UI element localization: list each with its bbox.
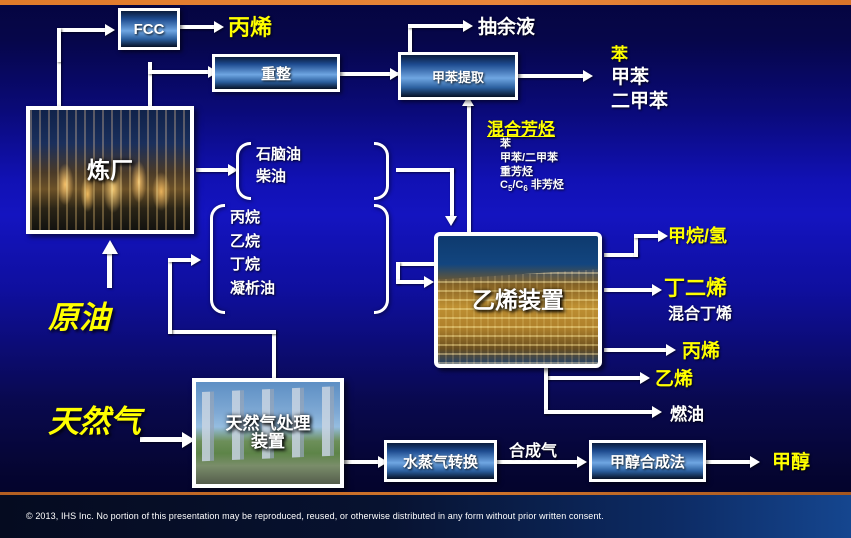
- connector-refinery-to-fcc-vertical: [57, 60, 61, 108]
- unit-gas-processing-line2: 装置: [226, 433, 311, 451]
- copyright-notice: © 2013, IHS Inc. No portion of this pres…: [26, 511, 604, 521]
- aromatic-benzene: 苯: [500, 138, 564, 152]
- cut-condensate: 凝析油: [230, 277, 275, 301]
- arrowhead-raffinate: [463, 20, 473, 32]
- brace-lightends-left: [210, 204, 225, 314]
- refinery-liquids-list: 石脑油 柴油: [256, 144, 301, 188]
- connector-ethylene-fueloil: [544, 410, 656, 414]
- unit-refinery-photo[interactable]: 炼厂: [26, 106, 194, 234]
- connector-ethylene-to-toluene-vertical: [467, 104, 471, 234]
- unit-gas-processing-label: 天然气处理 装置: [226, 415, 311, 451]
- product-propylene-ethylene-plant: 丙烯: [682, 336, 720, 363]
- unit-ethylene-plant-label: 乙烯装置: [472, 288, 564, 312]
- unit-fcc[interactable]: FCC: [118, 8, 180, 50]
- stream-syngas: 合成气: [509, 437, 557, 461]
- product-fuel-oil: 燃油: [670, 400, 704, 425]
- unit-steam-reforming-label: 水蒸气转换: [403, 451, 478, 472]
- connector-refinery-to-reformer-horizontal: [148, 70, 210, 74]
- connector-lightends-to-ethylene-a: [396, 262, 436, 266]
- arrowhead-ethylene-side-input: [424, 276, 434, 288]
- connector-refinery-to-fcc-horizontal: [57, 28, 105, 32]
- product-butadiene: 丁二烯: [664, 272, 727, 302]
- arrowhead-methane: [658, 230, 668, 242]
- cut-diesel: 柴油: [256, 166, 301, 188]
- cut-naphtha: 石脑油: [256, 144, 301, 166]
- product-ethylene: 乙烯: [655, 364, 693, 391]
- unit-reformer-label: 重整: [261, 63, 291, 84]
- unit-methanol-synthesis-label: 甲醇合成法: [610, 451, 685, 472]
- connector-liquids-to-ethylene-horizontal: [396, 168, 454, 172]
- unit-ethylene-plant-photo[interactable]: 乙烯装置: [434, 232, 602, 368]
- arrowhead-methanol-input: [577, 456, 587, 468]
- cut-propane: 丙烷: [230, 206, 275, 230]
- unit-methanol-synthesis[interactable]: 甲醇合成法: [589, 440, 706, 482]
- product-mixed-butenes: 混合丁烯: [668, 300, 732, 324]
- arrowhead-aromatics: [583, 70, 593, 82]
- c5c6-mid: /C: [512, 179, 523, 191]
- mixed-aromatics-title: 混合芳烃: [487, 115, 555, 140]
- connector-crude-to-refinery: [107, 250, 112, 288]
- c5c6-prefix: C: [500, 179, 508, 191]
- connector-gasplant-to-lightends-horizontal: [168, 330, 276, 334]
- stream-raffinate: 抽余液: [478, 12, 535, 39]
- feed-crude-oil: 原油: [48, 292, 110, 337]
- connector-ethylene-propylene: [604, 348, 670, 352]
- connector-liquids-to-ethylene-vertical: [450, 168, 454, 220]
- arrowhead-ethylene-top-input: [445, 216, 457, 226]
- brace-liquids-right: [374, 142, 389, 200]
- c5c6-suffix: 非芳烃: [528, 179, 564, 191]
- unit-steam-reforming[interactable]: 水蒸气转换: [384, 440, 497, 482]
- connector-ethylene-methane-a: [604, 253, 638, 257]
- arrowhead-butadiene: [652, 284, 662, 296]
- unit-refinery-label: 炼厂: [87, 158, 133, 182]
- brace-lightends-right: [374, 204, 389, 314]
- unit-toluene-extraction[interactable]: 甲苯提取: [398, 52, 518, 100]
- slide-canvas: 石脑油 柴油 丙烷 乙烷 丁烷 凝析油 FCC 重整 甲苯提取 水蒸气转换 甲醇…: [0, 0, 851, 538]
- refinery-lightends-list: 丙烷 乙烷 丁烷 凝析油: [230, 206, 275, 301]
- aromatic-heavy: 重芳烃: [500, 166, 564, 180]
- arrowhead-methanol-product: [750, 456, 760, 468]
- connector-gas-to-gasplant: [140, 437, 186, 442]
- unit-gas-processing-line1: 天然气处理: [226, 415, 311, 433]
- arrowhead-refinery-input: [102, 240, 118, 254]
- cut-ethane: 乙烷: [230, 230, 275, 254]
- arrowhead-ethylene: [640, 372, 650, 384]
- unit-gas-processing-photo[interactable]: 天然气处理 装置: [192, 378, 344, 488]
- connector-lightends-riser: [168, 258, 172, 334]
- connector-ethylene-drop-b: [544, 366, 548, 414]
- feed-natural-gas: 天然气: [48, 396, 141, 441]
- product-xylene: 二甲苯: [611, 86, 668, 113]
- arrowhead-lightends: [191, 254, 201, 266]
- product-propylene-fcc: 丙烯: [228, 10, 272, 42]
- connector-ethylene-ethylene: [544, 376, 646, 380]
- mixed-aromatics-list: 苯 甲苯/二甲苯 重芳烃 C5/C6 非芳烃: [500, 138, 564, 194]
- connector-fcc-to-propylene: [180, 25, 216, 29]
- aromatic-c5c6-nonaromatics: C5/C6 非芳烃: [500, 179, 564, 194]
- arrowhead-propylene2: [666, 344, 676, 356]
- arrowhead-fcc-input: [105, 24, 115, 36]
- product-methane-hydrogen: 甲烷/氢: [668, 222, 727, 248]
- connector-toluene-to-aromatics: [518, 74, 586, 78]
- top-accent-rule: [0, 0, 851, 5]
- connector-methanol-to-product: [706, 460, 756, 464]
- arrowhead-fueloil: [652, 406, 662, 418]
- connector-ethylene-butadiene: [604, 288, 656, 292]
- unit-toluene-extraction-label: 甲苯提取: [432, 67, 484, 86]
- product-toluene: 甲苯: [611, 62, 649, 89]
- aromatic-toluene-xylene: 甲苯/二甲苯: [500, 152, 564, 166]
- unit-fcc-label: FCC: [134, 21, 165, 38]
- unit-reformer[interactable]: 重整: [212, 54, 340, 92]
- cut-butane: 丁烷: [230, 253, 275, 277]
- brace-liquids-left: [236, 142, 251, 200]
- arrowhead-propylene: [214, 21, 224, 33]
- connector-fcc-riser: [57, 28, 61, 62]
- connector-raffinate-horizontal: [408, 24, 466, 28]
- connector-gasplant-to-lightends-vertical: [272, 330, 276, 378]
- product-methanol: 甲醇: [772, 447, 810, 474]
